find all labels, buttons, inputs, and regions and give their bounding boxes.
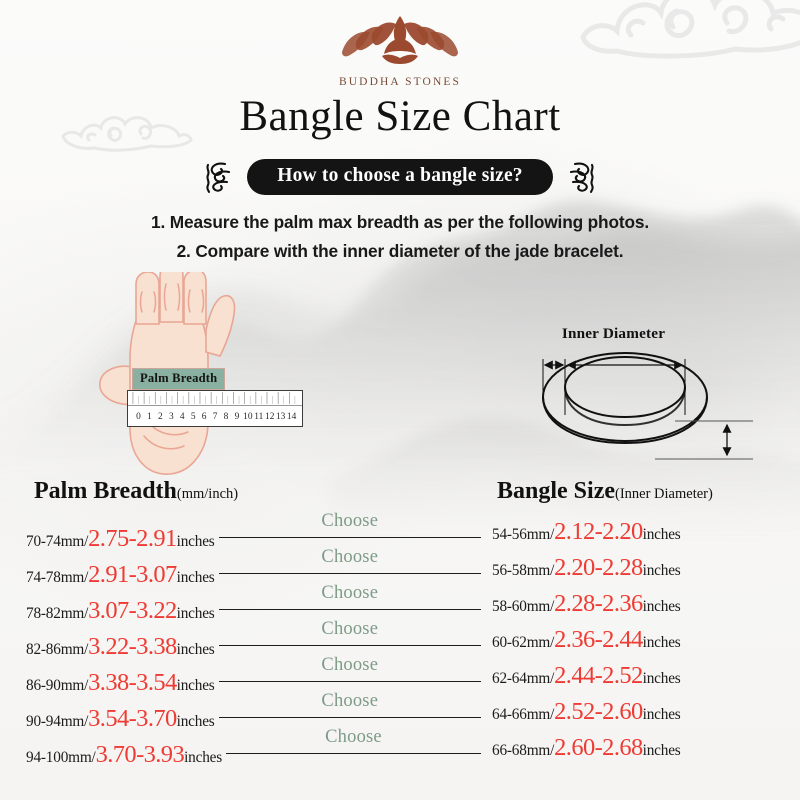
palm-mm-range: 86-90mm/ [26,677,88,695]
bangle-mm-range: 54-56mm/ [492,526,554,544]
choose-button[interactable]: Choose [219,592,481,618]
palm-mm-range: 70-74mm/ [26,533,88,551]
choose-underline [219,573,481,574]
choose-button[interactable]: Choose [219,664,481,690]
unit-label: inches [643,562,681,580]
table-row: 56-58mm/ 2.20-2.28 inches [492,556,792,592]
ruler-number: 12 [264,412,275,422]
table-row: 66-68mm/ 2.60-2.68 inches [492,736,792,772]
ruler-numbers: 0 1 2 3 4 5 6 7 8 9 10 11 12 13 14 [128,406,302,428]
palm-mm-range: 90-94mm/ [26,713,88,731]
ruler-number: 1 [144,412,155,422]
unit-label: inches [643,670,681,688]
choose-label: Choose [219,583,481,604]
banner-text: How to choose a bangle size? [247,159,553,195]
unit-label: inches [184,749,222,767]
ruler-number: 14 [286,412,297,422]
unit-label: inches [643,598,681,616]
bangle-inch-range: 2.60-2.68 [554,736,643,761]
choose-underline [219,717,481,718]
palm-mm-range: 74-78mm/ [26,569,88,587]
choose-label: Choose [219,655,481,676]
section-title: Bangle Size [497,478,615,504]
brand-logo-block: BUDDHA STONES [0,12,800,88]
palm-breadth-table: 70-74mm/ 2.75-2.91 inches Choose 74-78mm… [26,520,481,772]
flourish-ornament-icon [203,158,237,196]
ruler-number: 5 [188,412,199,422]
palm-mm-range: 82-86mm/ [26,641,88,659]
palm-inch-range: 2.91-3.07 [88,563,177,588]
table-row: 94-100mm/ 3.70-3.93 inches Choose [26,736,481,772]
ruler-ticks [128,391,302,406]
choose-label: Choose [219,511,481,532]
brand-name: BUDDHA STONES [339,76,461,88]
ruler-number: 13 [275,412,286,422]
ruler-number: 10 [242,412,253,422]
bangle-inch-range: 2.20-2.28 [554,556,643,581]
choose-button[interactable]: Choose [219,556,481,582]
section-header-palm-breadth: Palm Breadth(mm/inch) [34,478,238,505]
choose-underline [226,753,481,754]
unit-label: inches [643,634,681,652]
choose-label: Choose [219,691,481,712]
bangle-mm-range: 64-66mm/ [492,706,554,724]
unit-label: inches [177,677,215,695]
lotus-meditation-icon [336,12,464,74]
choose-label: Choose [226,727,481,748]
ruler-number: 3 [166,412,177,422]
ruler-number: 8 [221,412,232,422]
bangle-mm-range: 60-62mm/ [492,634,554,652]
choose-underline [219,609,481,610]
unit-label: inches [177,569,215,587]
ruler-number: 4 [177,412,188,422]
flourish-ornament-icon [563,158,597,196]
unit-label: inches [643,706,681,724]
ruler-number: 9 [231,412,242,422]
bangle-mm-range: 66-68mm/ [492,742,554,760]
choose-label: Choose [219,547,481,568]
unit-label: inches [177,713,215,731]
choose-button[interactable]: Choose [226,736,481,762]
bangle-size-table: 54-56mm/ 2.12-2.20 inches 56-58mm/ 2.20-… [492,520,792,772]
choose-button[interactable]: Choose [219,520,481,546]
choose-label: Choose [219,619,481,640]
bangle-mm-range: 58-60mm/ [492,598,554,616]
ruler-number: 11 [253,412,264,422]
bangle-ring-illustration [505,325,760,475]
page-title: Bangle Size Chart [0,92,800,141]
ruler-number: 7 [210,412,221,422]
instruction-line-2: 2. Compare with the inner diameter of th… [0,237,800,266]
bangle-mm-range: 62-64mm/ [492,670,554,688]
instructions-list: 1. Measure the palm max breadth as per t… [0,208,800,266]
choose-underline [219,537,481,538]
table-row: 60-62mm/ 2.36-2.44 inches [492,628,792,664]
bangle-diagram: Inner Diameter [505,325,760,475]
section-title: Palm Breadth [34,478,177,504]
table-row: 64-66mm/ 2.52-2.60 inches [492,700,792,736]
banner-row: How to choose a bangle size? [0,158,800,196]
section-header-bangle-size: Bangle Size(Inner Diameter) [497,478,713,505]
ruler-number: 2 [155,412,166,422]
ruler-number: 0 [133,412,144,422]
bangle-inch-range: 2.44-2.52 [554,664,643,689]
ruler-illustration: 0 1 2 3 4 5 6 7 8 9 10 11 12 13 14 [127,390,303,427]
unit-label: inches [177,641,215,659]
choose-underline [219,645,481,646]
palm-mm-range: 78-82mm/ [26,605,88,623]
palm-mm-range: 94-100mm/ [26,749,96,767]
unit-label: inches [643,742,681,760]
bangle-inch-range: 2.28-2.36 [554,592,643,617]
section-subtitle: (mm/inch) [177,486,238,502]
bangle-inch-range: 2.36-2.44 [554,628,643,653]
section-subtitle: (Inner Diameter) [615,486,713,502]
palm-inch-range: 3.22-3.38 [88,635,177,660]
unit-label: inches [177,605,215,623]
table-row: 62-64mm/ 2.44-2.52 inches [492,664,792,700]
table-row: 54-56mm/ 2.12-2.20 inches [492,520,792,556]
table-row: 58-60mm/ 2.28-2.36 inches [492,592,792,628]
bangle-inch-range: 2.52-2.60 [554,700,643,725]
instruction-line-1: 1. Measure the palm max breadth as per t… [0,208,800,237]
bangle-size-chart-page: BUDDHA STONES Bangle Size Chart How to c… [0,0,800,800]
unit-label: inches [643,526,681,544]
palm-breadth-badge: Palm Breadth [132,368,225,390]
palm-inch-range: 2.75-2.91 [88,527,177,552]
palm-inch-range: 3.70-3.93 [96,743,185,768]
choose-button[interactable]: Choose [219,628,481,654]
hand-measurement-figure: Palm Breadth [96,272,336,477]
bangle-inch-range: 2.12-2.20 [554,520,643,545]
bangle-mm-range: 56-58mm/ [492,562,554,580]
palm-inch-range: 3.38-3.54 [88,671,177,696]
palm-inch-range: 3.54-3.70 [88,707,177,732]
choose-button[interactable]: Choose [219,700,481,726]
choose-underline [219,681,481,682]
ruler-number: 6 [199,412,210,422]
palm-inch-range: 3.07-3.22 [88,599,177,624]
inner-diameter-label: Inner Diameter [505,325,722,343]
unit-label: inches [177,533,215,551]
